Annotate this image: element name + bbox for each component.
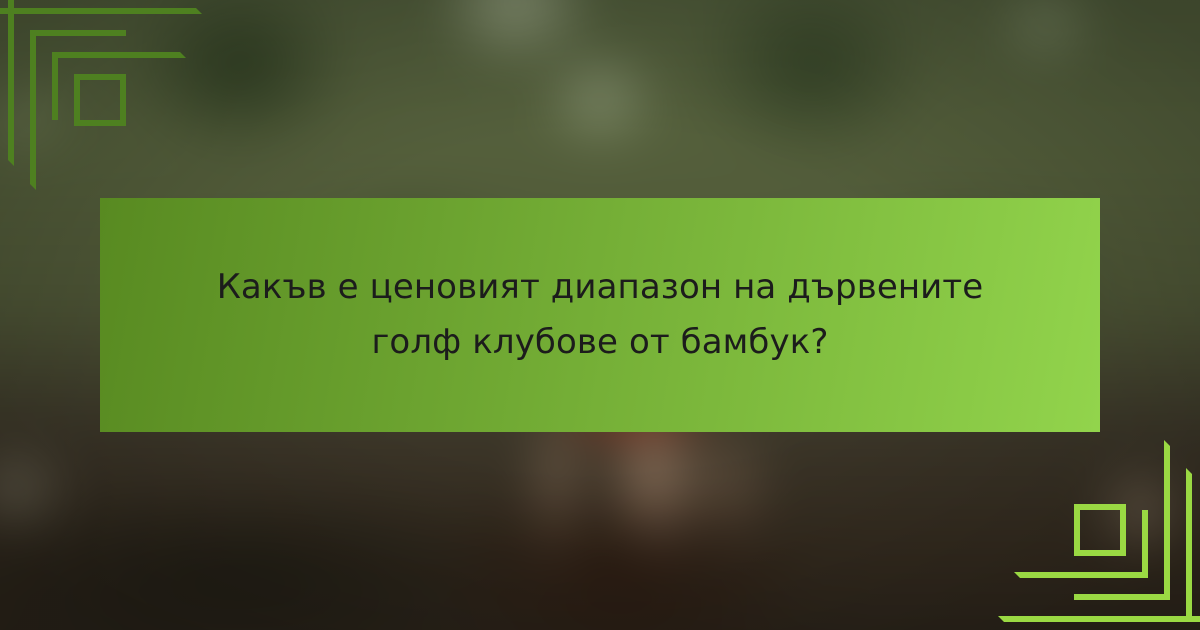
corner-ornament-bottom-right-icon: [980, 430, 1200, 630]
page-title: Какъв е ценовият диапазон на дървените г…: [170, 260, 1030, 370]
corner-ornament-top-left-icon: [0, 0, 220, 200]
image-canvas: Какъв е ценовият диапазон на дървените г…: [0, 0, 1200, 630]
title-banner: Какъв е ценовият диапазон на дървените г…: [100, 198, 1100, 432]
